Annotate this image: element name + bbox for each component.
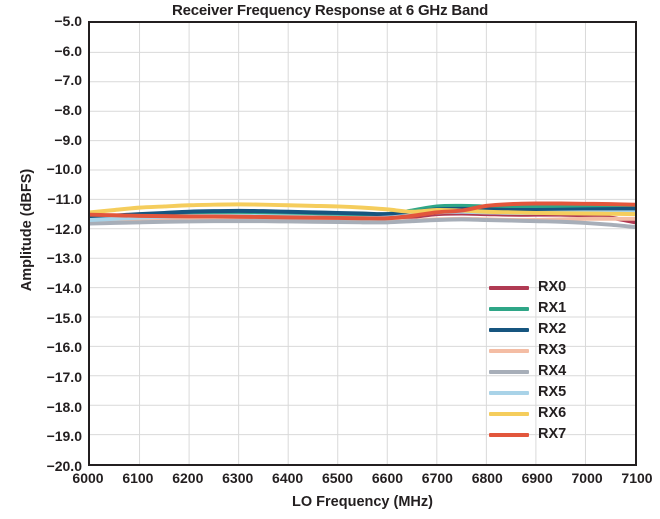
legend-label: RX5 [538,385,566,400]
x-tick-label: 6100 [122,470,153,486]
legend-item-rx0[interactable]: RX0 [489,277,566,298]
series-line-rx4 [90,219,635,227]
legend-color-swatch [489,391,529,395]
x-tick-label: 6200 [172,470,203,486]
x-tick-label: 6900 [522,470,553,486]
legend-color-swatch [489,286,529,290]
x-tick-label: 6600 [372,470,403,486]
chart-title: Receiver Frequency Response at 6 GHz Ban… [0,2,660,19]
y-tick-label: −6.0 [0,43,82,59]
y-tick-label: −13.0 [0,250,82,266]
legend-label: RX0 [538,280,566,295]
x-tick-label: 6000 [72,470,103,486]
y-tick-label: −18.0 [0,399,82,415]
legend-item-rx3[interactable]: RX3 [489,340,566,361]
y-tick-label: −14.0 [0,280,82,296]
legend-label: RX6 [538,406,566,421]
legend-label: RX1 [538,301,566,316]
y-tick-label: −12.0 [0,221,82,237]
y-tick-label: −7.0 [0,72,82,88]
legend-item-rx5[interactable]: RX5 [489,382,566,403]
legend-label: RX4 [538,364,566,379]
y-tick-label: −17.0 [0,369,82,385]
y-tick-label: −9.0 [0,132,82,148]
legend-color-swatch [489,349,529,353]
y-tick-label: −19.0 [0,428,82,444]
legend-color-swatch [489,412,529,416]
legend-label: RX2 [538,322,566,337]
legend-color-swatch [489,370,529,374]
chart-legend: RX0RX1RX2RX3RX4RX5RX6RX7 [489,277,566,445]
y-tick-label: −20.0 [0,458,82,474]
x-axis-title: LO Frequency (MHz) [88,494,637,510]
x-tick-label: 6700 [422,470,453,486]
legend-item-rx2[interactable]: RX2 [489,319,566,340]
y-tick-label: −10.0 [0,161,82,177]
y-tick-label: −5.0 [0,13,82,29]
x-tick-label: 6800 [472,470,503,486]
y-tick-label: −16.0 [0,339,82,355]
legend-color-swatch [489,328,529,332]
x-tick-label: 7000 [572,470,603,486]
legend-item-rx7[interactable]: RX7 [489,424,566,445]
y-tick-label: −15.0 [0,310,82,326]
x-tick-label: 6400 [272,470,303,486]
y-tick-label: −11.0 [0,191,82,207]
legend-color-swatch [489,433,529,437]
legend-item-rx6[interactable]: RX6 [489,403,566,424]
y-tick-label: −8.0 [0,102,82,118]
legend-item-rx4[interactable]: RX4 [489,361,566,382]
x-tick-label: 7100 [621,470,652,486]
x-axis-tick-labels: 6000610062006300640065006600670068006900… [88,470,637,492]
x-tick-label: 6300 [222,470,253,486]
x-tick-label: 6500 [322,470,353,486]
chart-figure: Receiver Frequency Response at 6 GHz Ban… [0,0,660,519]
legend-label: RX7 [538,427,566,442]
legend-color-swatch [489,307,529,311]
legend-item-rx1[interactable]: RX1 [489,298,566,319]
legend-label: RX3 [538,343,566,358]
y-axis-tick-labels: −5.0−6.0−7.0−8.0−9.0−10.0−11.0−12.0−13.0… [0,21,82,466]
